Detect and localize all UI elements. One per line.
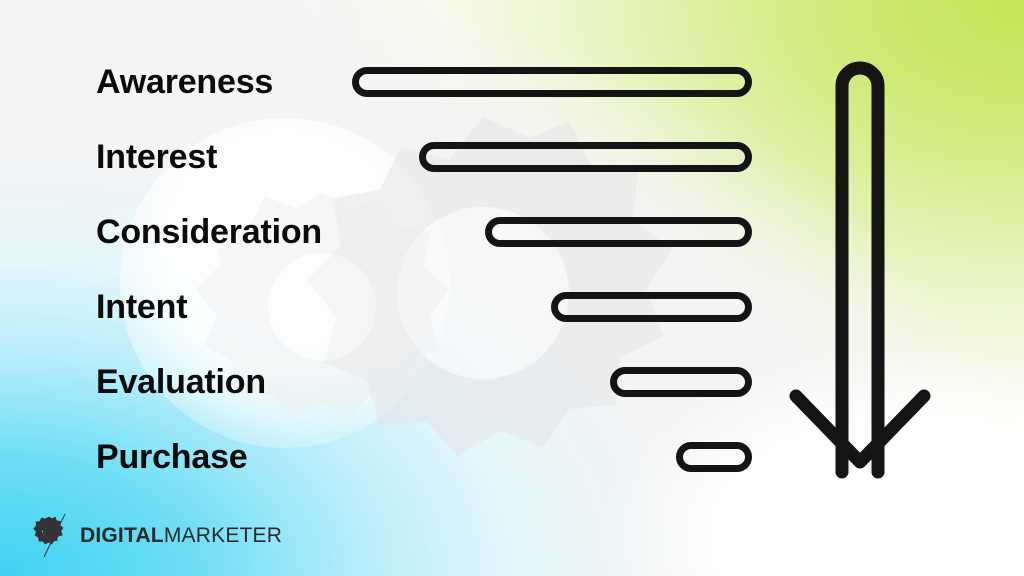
funnel-row-awareness: Awareness <box>0 60 768 104</box>
funnel-label-evaluation: Evaluation <box>96 365 266 399</box>
funnel-bar-purchase <box>676 442 752 472</box>
funnel-row-interest: Interest <box>0 135 768 179</box>
funnel-label-awareness: Awareness <box>96 65 273 99</box>
funnel-bar-consideration <box>485 217 752 247</box>
funnel-label-intent: Intent <box>96 290 187 324</box>
funnel-bar-evaluation <box>610 367 752 397</box>
funnel-row-purchase: Purchase <box>0 435 768 479</box>
funnel-row-intent: Intent <box>0 285 768 329</box>
logo-text-digital: DIGITAL <box>80 525 164 546</box>
logo-text-marketer: MARKETER <box>164 525 282 546</box>
funnel-row-evaluation: Evaluation <box>0 360 768 404</box>
funnel-label-purchase: Purchase <box>96 440 247 474</box>
gears-icon <box>32 512 78 558</box>
funnel-label-consideration: Consideration <box>96 215 322 249</box>
funnel-infographic: Awareness Interest Consideration Intent … <box>0 0 1024 576</box>
digitalmarketer-logo: DIGITALMARKETER <box>32 512 282 558</box>
funnel-label-interest: Interest <box>96 140 217 174</box>
arrow-down-icon <box>780 52 940 494</box>
logo-wordmark: DIGITALMARKETER <box>80 525 282 546</box>
funnel-bar-intent <box>551 292 752 322</box>
funnel-bar-interest <box>419 142 752 172</box>
funnel-bar-awareness <box>352 67 752 97</box>
funnel-row-consideration: Consideration <box>0 210 768 254</box>
